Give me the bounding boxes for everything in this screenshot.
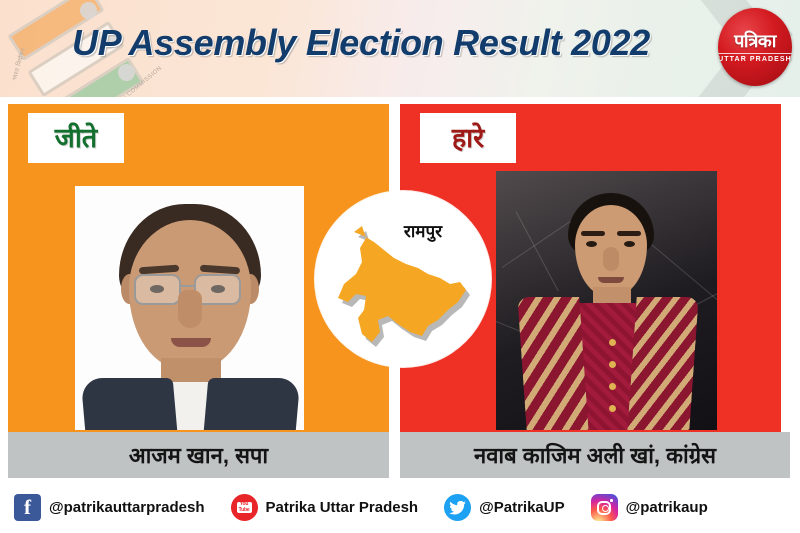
patrika-logo-main-text: पत्रिका [734,32,776,50]
loser-eye-right [624,241,635,247]
winner-photo [75,186,304,430]
election-result-card: भारत निर्वाचन ELECTION COMMISSION UP Ass… [0,0,800,533]
youtube-icon: YouTube [231,494,258,521]
social-footer: f @patrikauttarpradesh YouTube Patrika U… [0,482,800,533]
youtube-icon-inner: YouTube [237,502,252,513]
loser-shawl-right [627,297,698,430]
loser-shawl-left [517,297,588,430]
social-link-youtube[interactable]: YouTube Patrika Uttar Pradesh [231,494,419,521]
loser-nose [603,247,619,271]
social-link-instagram[interactable]: @patrikaup [591,494,708,521]
winner-spectacle-lens-left [134,274,181,305]
winner-spectacle-bridge [181,285,194,287]
loser-caption-bar: नवाब काजिम अली खां, कांग्रेस [400,432,790,478]
twitter-icon [444,494,471,521]
instagram-icon-ring [597,501,611,515]
backdrop-facet-5 [516,211,559,291]
youtube-handle: Patrika Uttar Pradesh [266,499,419,516]
facebook-icon: f [14,494,41,521]
loser-mouth [598,277,624,283]
loser-sherwani-button-1 [609,339,616,346]
loser-sherwani-button-4 [609,405,616,412]
winner-mouth [171,338,211,347]
winner-jacket-right [204,378,301,430]
status-badge-lost: हारे [420,113,516,163]
eci-arc-text-right: ELECTION COMMISSION [99,65,163,97]
instagram-handle: @patrikaup [626,499,708,516]
loser-sherwani-button-3 [609,383,616,390]
winner-nose [178,290,202,328]
loser-brow-left [581,231,605,236]
patrika-logo: पत्रिका UTTAR PRADESH [718,8,792,86]
loser-eye-left [586,241,597,247]
instagram-icon-dot [610,499,613,502]
header-banner: भारत निर्वाचन ELECTION COMMISSION UP Ass… [0,0,800,97]
twitter-handle: @PatrikaUP [479,499,565,516]
constituency-label: रामपुर [315,219,491,242]
winner-jacket-left [81,378,178,430]
status-badge-lost-label: हारे [452,125,484,152]
status-badge-won: जीते [28,113,124,163]
patrika-logo-sub-text: UTTAR PRADESH [718,53,792,63]
page-title: UP Assembly Election Result 2022 [0,22,800,64]
loser-brow-right [617,231,641,236]
twitter-bird-glyph [449,501,466,515]
winner-caption-bar: आजम खान, सपा [8,432,389,478]
status-badge-won-label: जीते [55,125,97,152]
social-link-facebook[interactable]: f @patrikauttarpradesh [14,494,205,521]
winner-name-label: आजम खान, सपा [129,440,268,470]
loser-name-label: नवाब काजिम अली खां, कांग्रेस [474,440,716,470]
loser-sherwani-button-2 [609,361,616,368]
facebook-handle: @patrikauttarpradesh [49,499,205,516]
loser-photo [496,171,717,430]
social-link-twitter[interactable]: @PatrikaUP [444,494,565,521]
constituency-map-medallion: रामपुर [315,191,491,367]
instagram-icon [591,494,618,521]
